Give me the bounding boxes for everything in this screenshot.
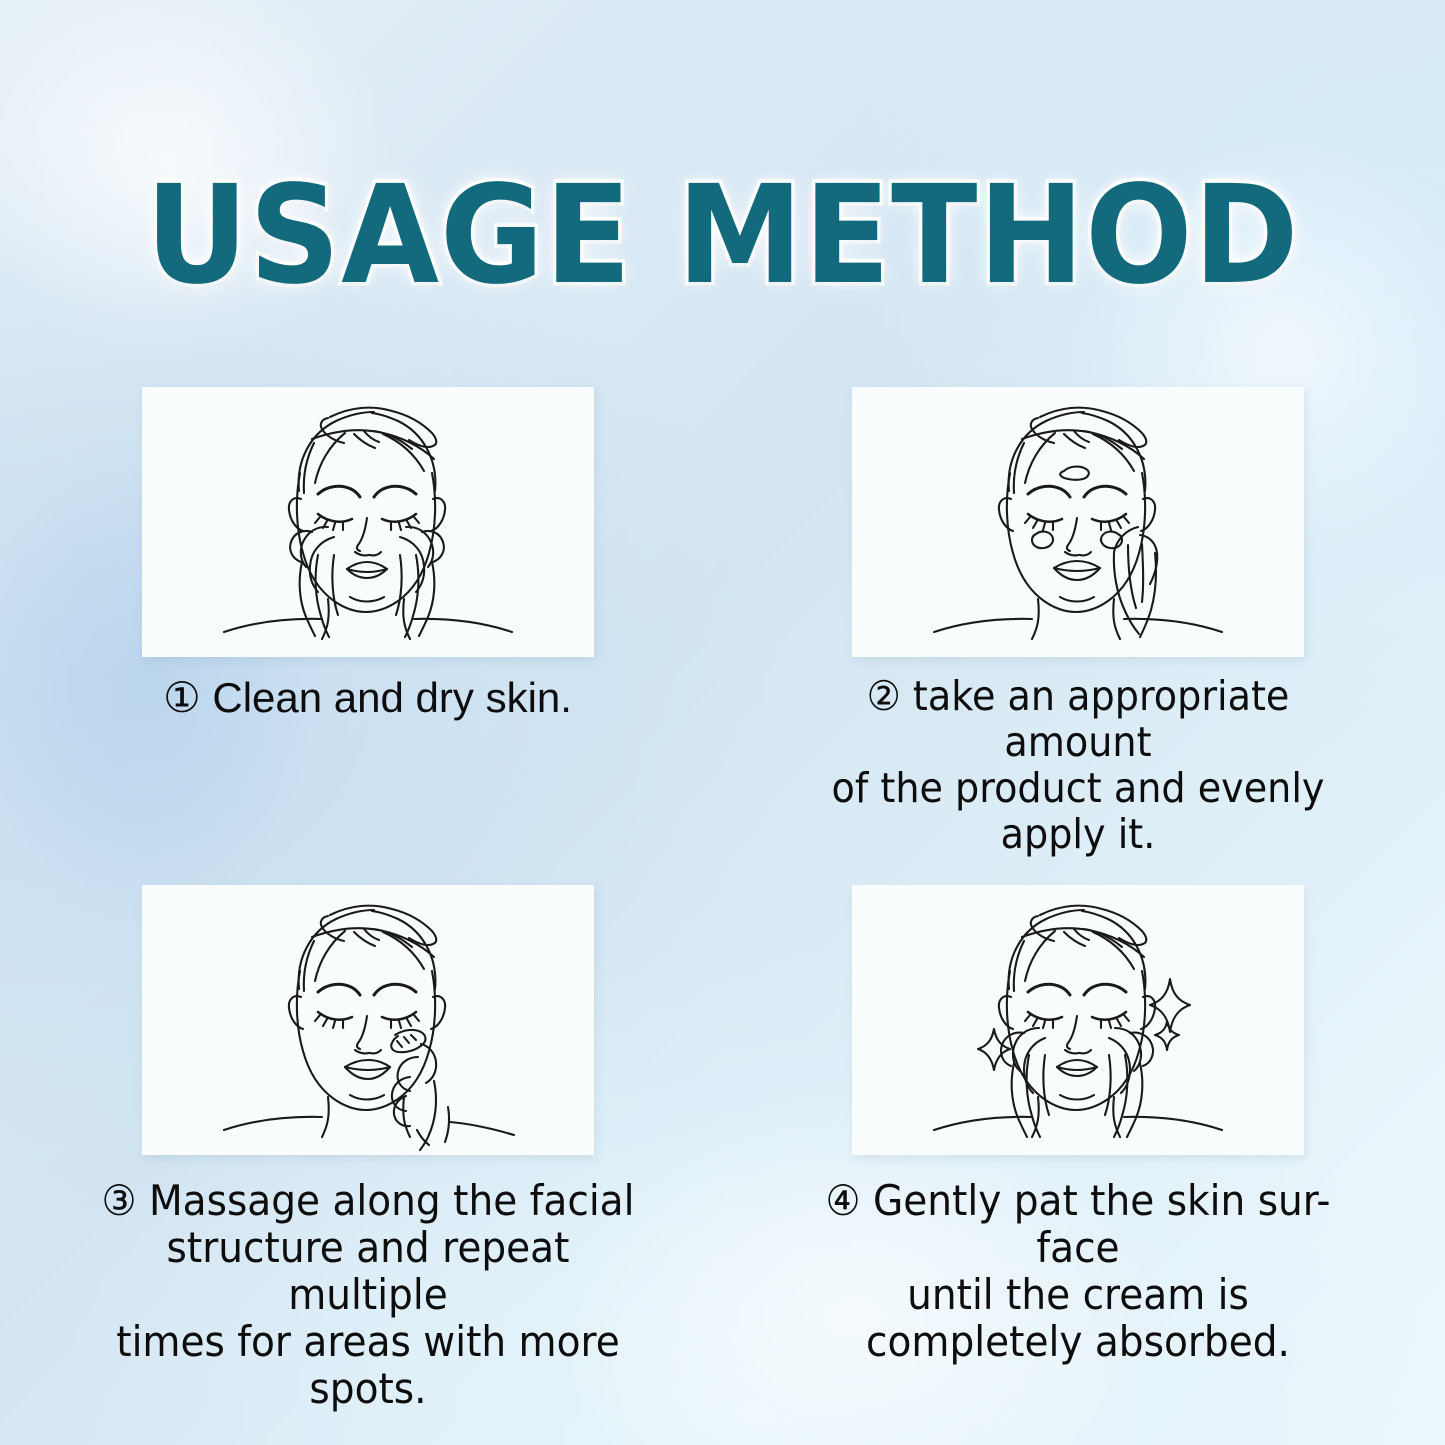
woman-both-hands-on-cheeks-icon (142, 387, 594, 657)
step-1-caption-line-1: ① Clean and dry skin. (68, 674, 668, 721)
step-4-caption: ④ Gently pat the skin sur-face until the… (799, 1177, 1357, 1365)
cream-dot (1032, 532, 1053, 549)
step-4-caption-line-1: ④ Gently pat the skin sur-face (799, 1177, 1357, 1271)
step-2-illustration-card (852, 387, 1304, 657)
step-3-caption-line-1: ③ Massage along the facial (89, 1177, 647, 1224)
step-2-caption: ② take an appropriate amount of the prod… (799, 674, 1357, 858)
step-2-caption-line-2: of the product and evenly apply it. (799, 766, 1357, 858)
step-4-illustration-card (852, 885, 1304, 1155)
steps-row-1: ① Clean and dry skin. (0, 387, 1445, 858)
step-3-caption-line-3: times for areas with more spots. (89, 1318, 647, 1412)
step-1: ① Clean and dry skin. (58, 387, 723, 721)
cream-dot (1060, 467, 1089, 480)
step-2: ② take an appropriate amount of the prod… (723, 387, 1388, 858)
step-2-caption-line-1: ② take an appropriate amount (799, 674, 1357, 766)
step-1-illustration-card (142, 387, 594, 657)
step-1-caption: ① Clean and dry skin. (68, 674, 668, 721)
steps-row-2: ③ Massage along the facial structure and… (0, 885, 1445, 1412)
woman-applying-cream-icon (852, 387, 1304, 657)
step-3-caption: ③ Massage along the facial structure and… (89, 1177, 647, 1412)
step-4: ④ Gently pat the skin sur-face until the… (723, 885, 1388, 1365)
step-4-caption-line-3: completely absorbed. (799, 1318, 1357, 1365)
step-4-caption-line-2: until the cream is (799, 1271, 1357, 1318)
steps-grid: ① Clean and dry skin. (0, 387, 1445, 1412)
sparkle-icon (978, 1029, 1010, 1070)
woman-patting-face-sparkle-icon (852, 885, 1304, 1155)
page-title: USAGE METHOD (51, 168, 1395, 304)
woman-finger-massage-icon (142, 885, 594, 1155)
step-3: ③ Massage along the facial structure and… (58, 885, 723, 1412)
sparkle-icon (1155, 1021, 1179, 1050)
step-3-caption-line-2: structure and repeat multiple (89, 1224, 647, 1318)
step-3-illustration-card (142, 885, 594, 1155)
usage-method-poster: USAGE METHOD (0, 0, 1445, 1445)
